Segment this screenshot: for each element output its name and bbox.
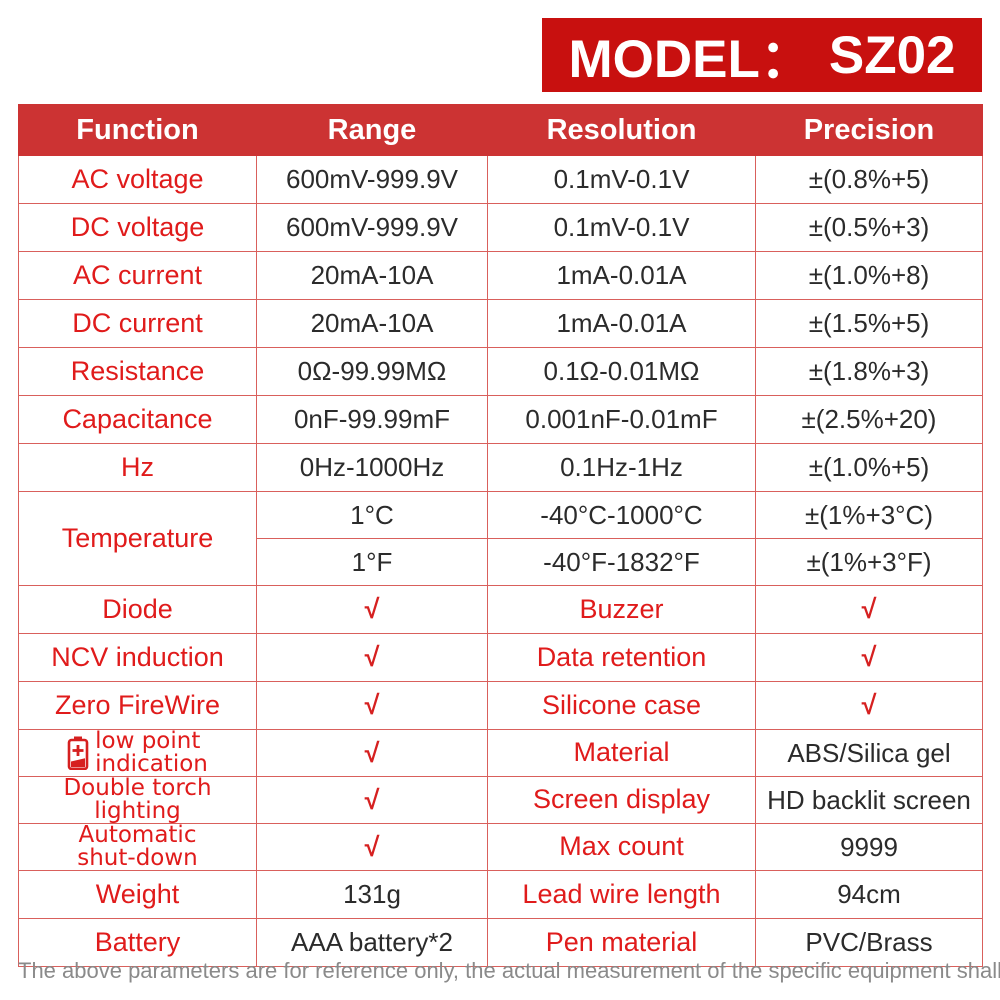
check-icon: √ xyxy=(257,824,488,871)
precision-value: ±(1.8%+3) xyxy=(756,348,983,396)
range-value: 20mA-10A xyxy=(257,252,488,300)
function-label-temperature: Temperature xyxy=(19,492,257,586)
feature-label-line2: lighting xyxy=(19,800,256,823)
feature-label-line1: low point xyxy=(95,730,208,753)
feature-label-left: NCV induction xyxy=(19,634,257,682)
feature-label-right: Max count xyxy=(488,824,756,871)
function-label: Hz xyxy=(19,444,257,492)
table-row: NCV induction √ Data retention √ xyxy=(19,634,983,682)
precision-value: ±(1%+3°F) xyxy=(756,539,983,586)
check-icon: √ xyxy=(257,777,488,824)
column-header-function: Function xyxy=(19,105,257,156)
range-value: 0Hz-1000Hz xyxy=(257,444,488,492)
feature-label-line2: shut-down xyxy=(19,847,256,870)
range-value: 600mV-999.9V xyxy=(257,156,488,204)
model-value: SZ02 xyxy=(829,25,956,86)
resolution-value: 0.1Ω-0.01MΩ xyxy=(488,348,756,396)
function-label: Resistance xyxy=(19,348,257,396)
column-header-range: Range xyxy=(257,105,488,156)
feature-label-right: Buzzer xyxy=(488,586,756,634)
resolution-value: -40°F-1832°F xyxy=(488,539,756,586)
table-row: AC current 20mA-10A 1mA-0.01A ±(1.0%+8) xyxy=(19,252,983,300)
spec-label-left: Weight xyxy=(19,871,257,919)
table-row: DC voltage 600mV-999.9V 0.1mV-0.1V ±(0.5… xyxy=(19,204,983,252)
resolution-value: 0.1mV-0.1V xyxy=(488,156,756,204)
check-icon: √ xyxy=(756,682,983,730)
table-row: low point indication √ Material ABS/Sili… xyxy=(19,730,983,777)
range-value: 0Ω-99.99MΩ xyxy=(257,348,488,396)
table-row: AC voltage 600mV-999.9V 0.1mV-0.1V ±(0.8… xyxy=(19,156,983,204)
table-row: Double torch lighting √ Screen display H… xyxy=(19,777,983,824)
feature-label-auto-shutdown: Automatic shut-down xyxy=(19,824,257,871)
check-icon: √ xyxy=(756,634,983,682)
table-row: Weight 131g Lead wire length 94cm xyxy=(19,871,983,919)
column-header-resolution: Resolution xyxy=(488,105,756,156)
function-label: DC current xyxy=(19,300,257,348)
footer-disclaimer: The above parameters are for reference o… xyxy=(18,958,982,984)
feature-value-right: HD backlit screen xyxy=(756,777,983,824)
specification-table: Function Range Resolution Precision AC v… xyxy=(18,104,983,967)
table-row: Hz 0Hz-1000Hz 0.1Hz-1Hz ±(1.0%+5) xyxy=(19,444,983,492)
table-row: Zero FireWire √ Silicone case √ xyxy=(19,682,983,730)
resolution-value: 1mA-0.01A xyxy=(488,300,756,348)
feature-label-right: Material xyxy=(488,730,756,777)
model-banner: MODEL： SZ02 xyxy=(542,18,982,92)
low-battery-icon xyxy=(67,736,89,770)
precision-value: ±(1.0%+8) xyxy=(756,252,983,300)
feature-value-right: 9999 xyxy=(756,824,983,871)
check-icon: √ xyxy=(257,682,488,730)
precision-value: ±(0.8%+5) xyxy=(756,156,983,204)
function-label: AC current xyxy=(19,252,257,300)
precision-value: ±(1.0%+5) xyxy=(756,444,983,492)
table-row: Resistance 0Ω-99.99MΩ 0.1Ω-0.01MΩ ±(1.8%… xyxy=(19,348,983,396)
feature-value-right: ABS/Silica gel xyxy=(756,730,983,777)
function-label: AC voltage xyxy=(19,156,257,204)
check-icon: √ xyxy=(257,634,488,682)
feature-label-right: Screen display xyxy=(488,777,756,824)
function-label: Capacitance xyxy=(19,396,257,444)
column-header-precision: Precision xyxy=(756,105,983,156)
range-value: 0nF-99.99mF xyxy=(257,396,488,444)
range-value: 20mA-10A xyxy=(257,300,488,348)
resolution-value: -40°C-1000°C xyxy=(488,492,756,539)
precision-value: ±(1.5%+5) xyxy=(756,300,983,348)
precision-value: ±(1%+3°C) xyxy=(756,492,983,539)
check-icon: √ xyxy=(756,586,983,634)
feature-label-line2: indication xyxy=(95,753,208,776)
feature-label-double-torch: Double torch lighting xyxy=(19,777,257,824)
feature-label-line1: Double torch xyxy=(19,777,256,800)
check-icon: √ xyxy=(257,586,488,634)
range-value: 1°F xyxy=(257,539,488,586)
table-row: Capacitance 0nF-99.99mF 0.001nF-0.01mF ±… xyxy=(19,396,983,444)
spec-sheet-page: MODEL： SZ02 Function Range Resolution Pr… xyxy=(0,0,1000,1000)
model-label: MODEL： xyxy=(568,17,812,93)
feature-label-left: Diode xyxy=(19,586,257,634)
range-value: 600mV-999.9V xyxy=(257,204,488,252)
feature-label-low-battery: low point indication xyxy=(19,730,257,777)
table-header-row: Function Range Resolution Precision xyxy=(19,105,983,156)
precision-value: ±(2.5%+20) xyxy=(756,396,983,444)
feature-label-left: Zero FireWire xyxy=(19,682,257,730)
function-label: DC voltage xyxy=(19,204,257,252)
table-row: Automatic shut-down √ Max count 9999 xyxy=(19,824,983,871)
resolution-value: 0.1Hz-1Hz xyxy=(488,444,756,492)
check-icon: √ xyxy=(257,730,488,777)
spec-label-right: Lead wire length xyxy=(488,871,756,919)
table-row: DC current 20mA-10A 1mA-0.01A ±(1.5%+5) xyxy=(19,300,983,348)
feature-label-line1: Automatic xyxy=(19,824,256,847)
resolution-value: 0.001nF-0.01mF xyxy=(488,396,756,444)
precision-value: ±(0.5%+3) xyxy=(756,204,983,252)
feature-label-right: Silicone case xyxy=(488,682,756,730)
table-row-temperature-celsius: Temperature 1°C -40°C-1000°C ±(1%+3°C) xyxy=(19,492,983,539)
spec-value-left: 131g xyxy=(257,871,488,919)
resolution-value: 0.1mV-0.1V xyxy=(488,204,756,252)
resolution-value: 1mA-0.01A xyxy=(488,252,756,300)
range-value: 1°C xyxy=(257,492,488,539)
spec-value-right: 94cm xyxy=(756,871,983,919)
feature-label-right: Data retention xyxy=(488,634,756,682)
table-row: Diode √ Buzzer √ xyxy=(19,586,983,634)
